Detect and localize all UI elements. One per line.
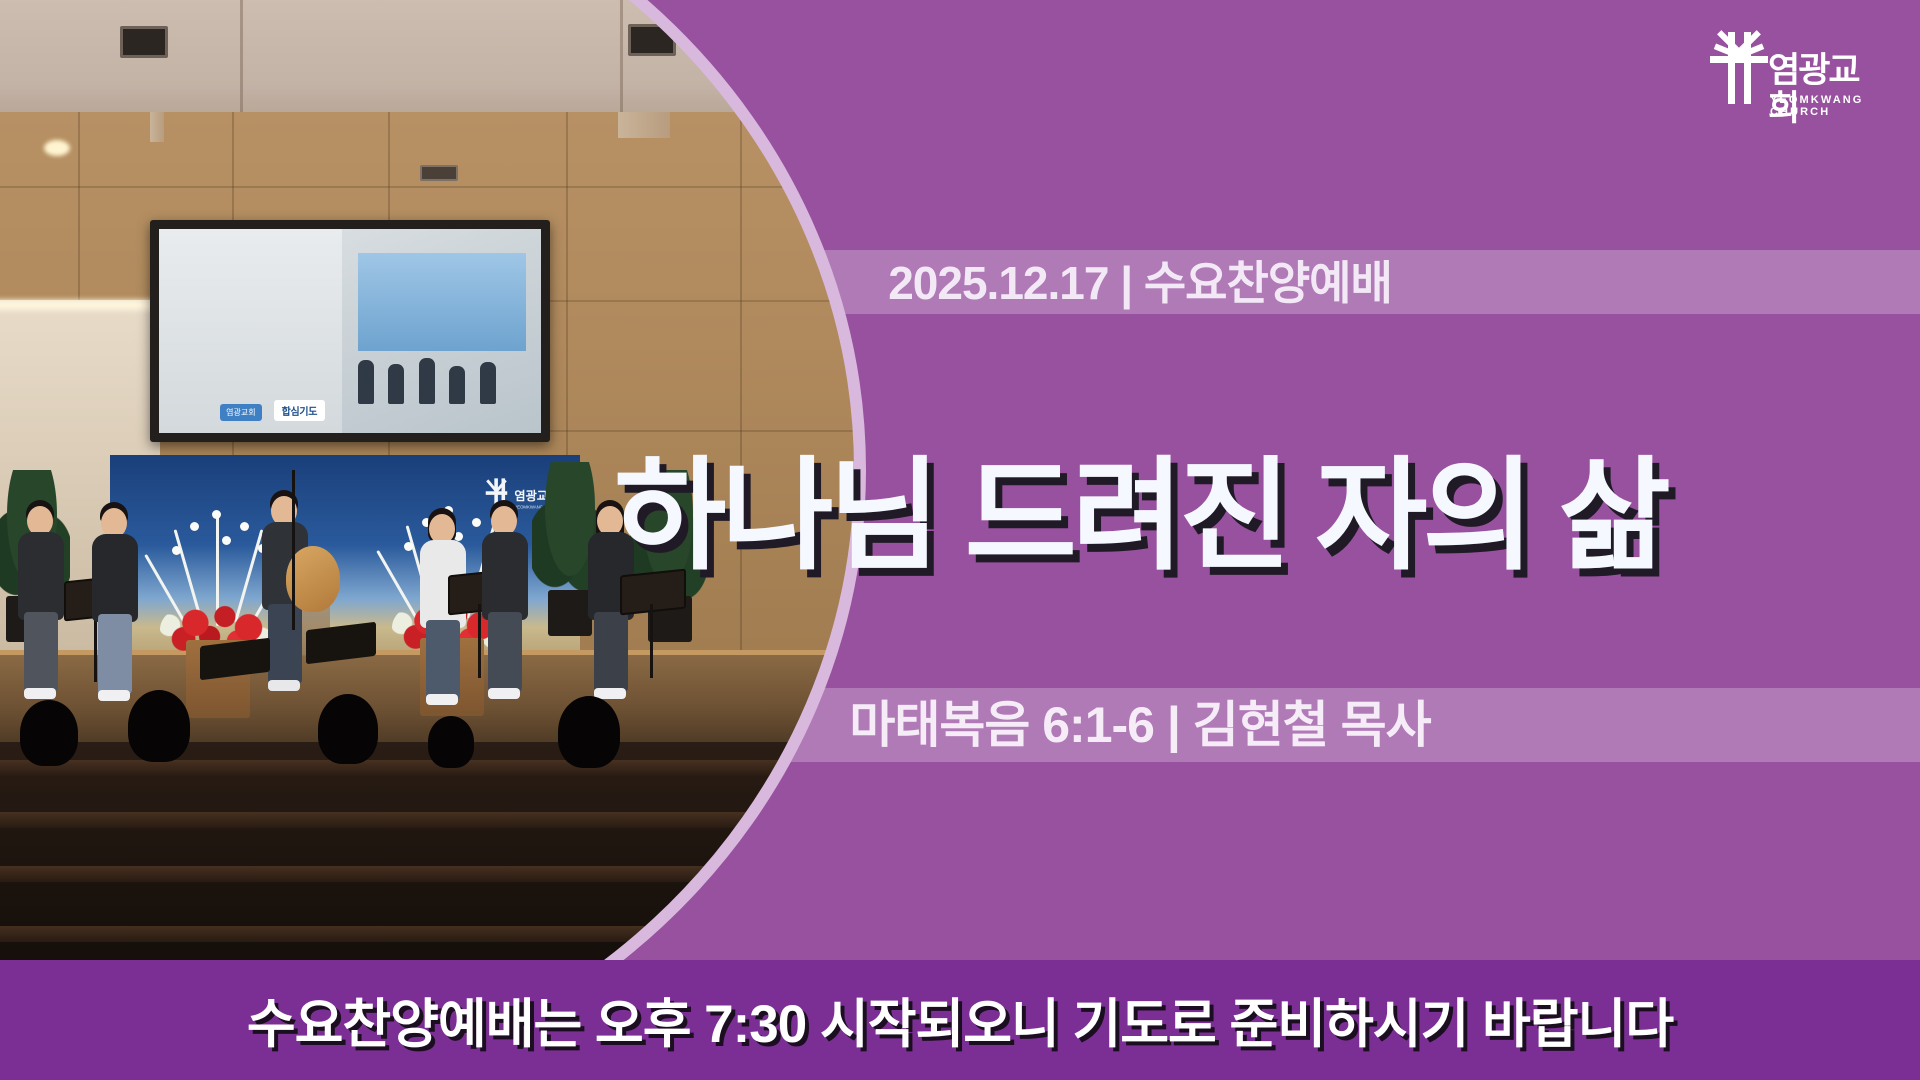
notice-text: 수요찬양예배는 오후 7:30 시작되오니 기도로 준비하시기 바랍니다 (0, 960, 1920, 1080)
church-logo: 염광교회 YEOMKWANG CHURCH (1706, 22, 1876, 126)
logo-name-english: YEOMKWANG CHURCH (1770, 94, 1876, 118)
ceiling-vent-icon (120, 26, 168, 58)
screen-chip-main: 합심기도 (274, 400, 326, 421)
announcement-slide: 염광교회 합심기도 염광교회 YEOMKWANG CHURCH (0, 0, 1920, 1080)
ceiling-vent-icon (628, 24, 676, 56)
scripture-preacher-line: 마태복음 6:1-6 | 김현철 목사 (0, 692, 1920, 758)
sermon-title: 하나님 드려진 자의 삶 (0, 448, 1920, 584)
exit-sign-icon (420, 165, 458, 181)
service-date-line: 2025.12.17 | 수요찬양예배 (0, 252, 1920, 314)
screen-chip-small: 염광교회 (220, 404, 261, 421)
